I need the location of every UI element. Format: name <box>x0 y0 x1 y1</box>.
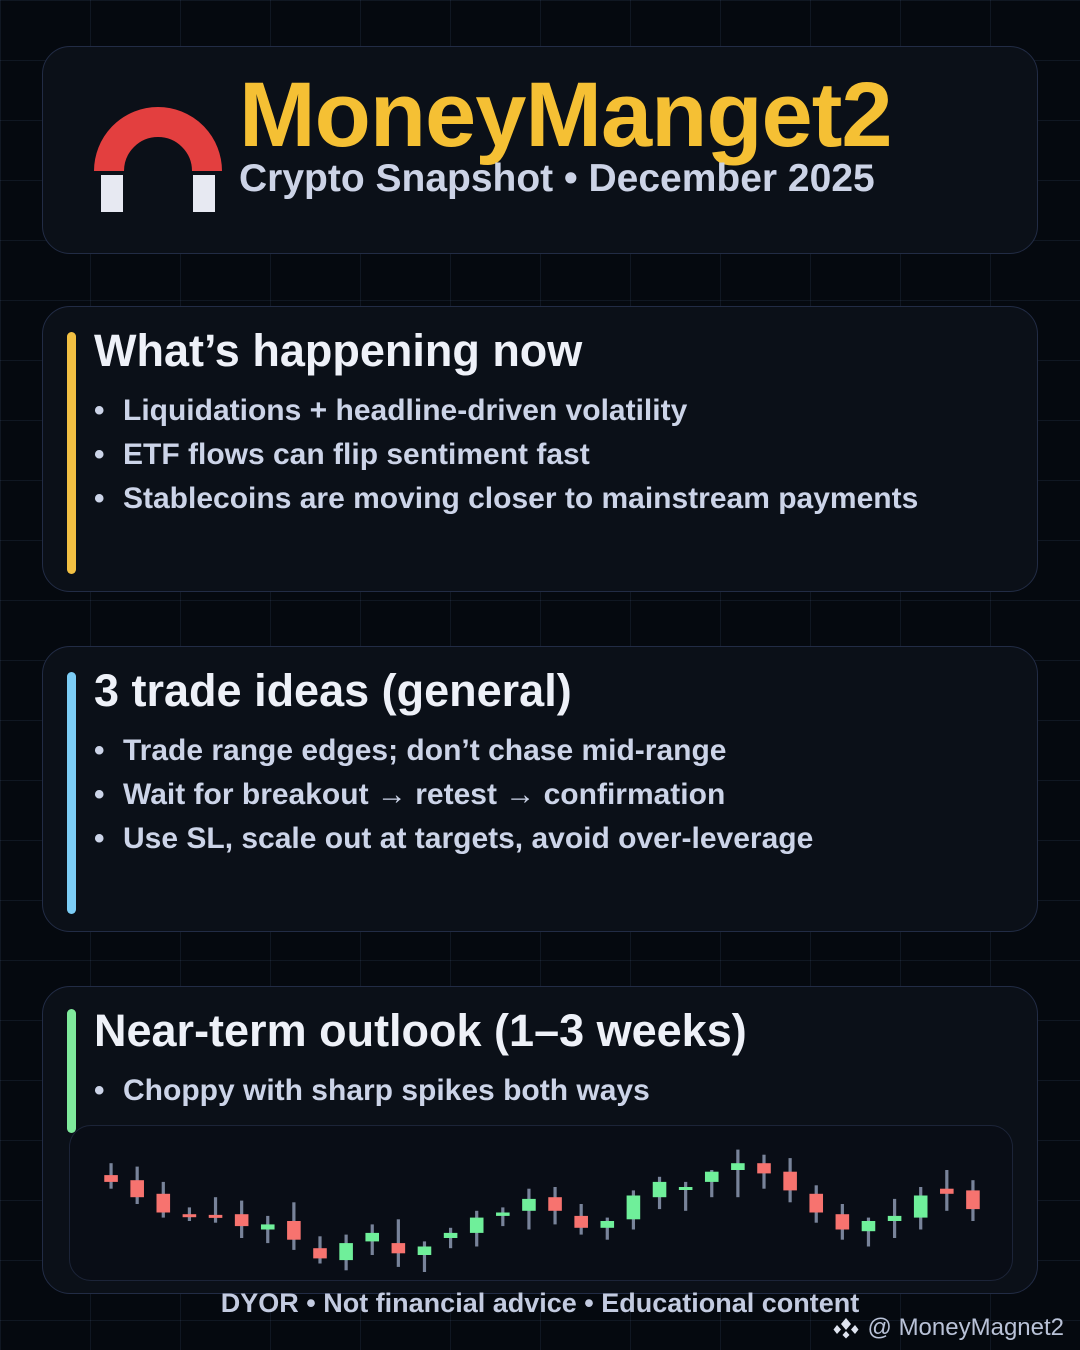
section-title: Near-term outlook (1–3 weeks) <box>94 1005 747 1057</box>
list-item: ETF flows can flip sentiment fast <box>94 433 1024 477</box>
candlestick-chart-panel <box>69 1125 1013 1281</box>
section-card-trade-ideas: 3 trade ideas (general) Trade range edge… <box>42 646 1038 932</box>
accent-bar <box>67 672 76 914</box>
header-card: MoneyManget2 Crypto Snapshot • December … <box>42 46 1038 254</box>
brand-title: MoneyManget2 <box>239 69 892 161</box>
bullet-list: Trade range edges; don’t chase mid-range… <box>94 729 1024 861</box>
list-item: Liquidations + headline-driven volatilit… <box>94 389 1024 433</box>
section-title: 3 trade ideas (general) <box>94 665 572 717</box>
section-card-near-term-outlook: Near-term outlook (1–3 weeks) Choppy wit… <box>42 986 1038 1294</box>
section-title: What’s happening now <box>94 325 582 377</box>
candlestick-chart <box>70 1126 1013 1281</box>
brand-subtitle: Crypto Snapshot • December 2025 <box>239 159 875 198</box>
list-item: Use SL, scale out at targets, avoid over… <box>94 817 1024 861</box>
horseshoe-magnet-icon <box>93 87 223 212</box>
list-item: Stablecoins are moving closer to mainstr… <box>94 477 1024 521</box>
watermark-handle: @ MoneyMagnet2 <box>868 1314 1064 1342</box>
bullet-list: Liquidations + headline-driven volatilit… <box>94 389 1024 521</box>
crypto-snapshot-card: MoneyManget2 Crypto Snapshot • December … <box>0 0 1080 1350</box>
watermark: @ MoneyMagnet2 <box>833 1314 1064 1342</box>
section-card-whats-happening: What’s happening now Liquidations + head… <box>42 306 1038 592</box>
accent-bar <box>67 332 76 574</box>
diamond-cluster-icon <box>833 1317 859 1339</box>
accent-bar <box>67 1009 76 1133</box>
list-item: Choppy with sharp spikes both ways <box>94 1069 1024 1113</box>
list-item: Trade range edges; don’t chase mid-range <box>94 729 1024 773</box>
list-item: Wait for breakout → retest → confirmatio… <box>94 773 1024 817</box>
bullet-list: Choppy with sharp spikes both ways <box>94 1069 1024 1113</box>
